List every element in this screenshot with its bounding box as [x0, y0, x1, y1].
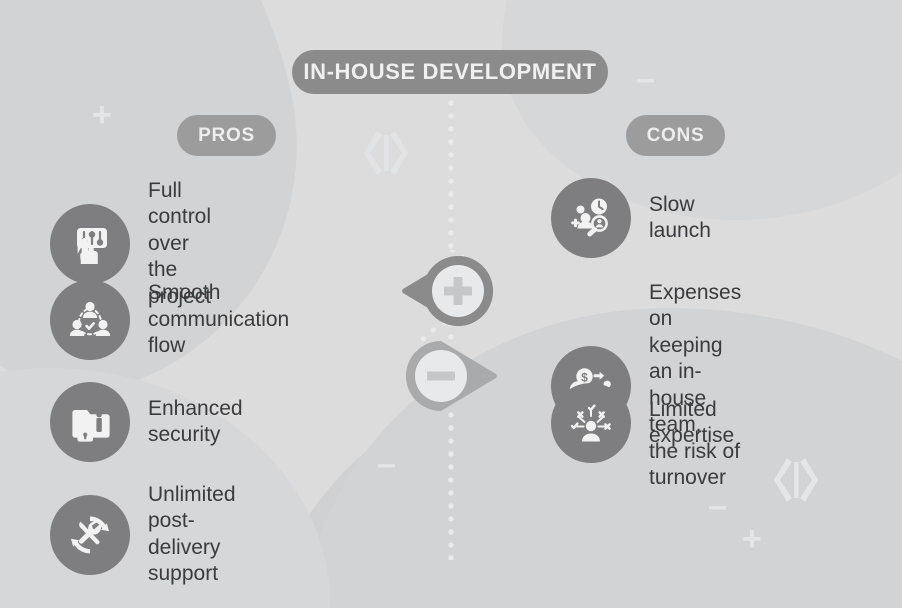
plus-marker [401, 256, 493, 326]
pros-item-label: Enhanced security [148, 396, 243, 449]
decorative-plus-icon: + [92, 98, 112, 132]
code-brackets-icon [362, 131, 410, 180]
folder-lock-icon [50, 382, 130, 462]
pros-item-support: Unlimited post-delivery support [50, 482, 236, 588]
cons-item-label: Limited expertise [649, 397, 734, 450]
infographic-canvas: + – – – + IN-HOUSE DEVELOPMENT PROS CONS [0, 0, 902, 608]
tools-refresh-icon [50, 495, 130, 575]
pros-item-label: Unlimited post-delivery support [148, 482, 236, 588]
decorative-minus-icon: – [708, 489, 727, 523]
page-title: IN-HOUSE DEVELOPMENT [292, 50, 608, 94]
sliders-hand-icon [50, 204, 130, 284]
cons-item-limited-expertise: Limited expertise [551, 383, 734, 463]
pros-item-security: Enhanced security [50, 382, 243, 462]
cons-item-label: Slow launch [649, 192, 711, 245]
person-skills-icon [551, 383, 631, 463]
decorative-plus-icon: + [742, 522, 762, 556]
cons-heading-badge: CONS [626, 115, 725, 156]
pros-item-communication: Smooth communication flow [50, 280, 289, 360]
pros-heading-badge: PROS [177, 115, 276, 156]
hiring-clock-search-icon [551, 178, 631, 258]
pros-item-label: Smooth communication flow [148, 280, 289, 359]
code-brackets-icon [772, 458, 820, 507]
minus-marker [406, 341, 498, 411]
decorative-minus-icon: – [636, 62, 655, 96]
decorative-minus-icon: – [377, 447, 396, 481]
team-check-icon [50, 280, 130, 360]
vertical-dotted-divider [448, 100, 454, 560]
cons-item-slow-launch: Slow launch [551, 178, 711, 258]
